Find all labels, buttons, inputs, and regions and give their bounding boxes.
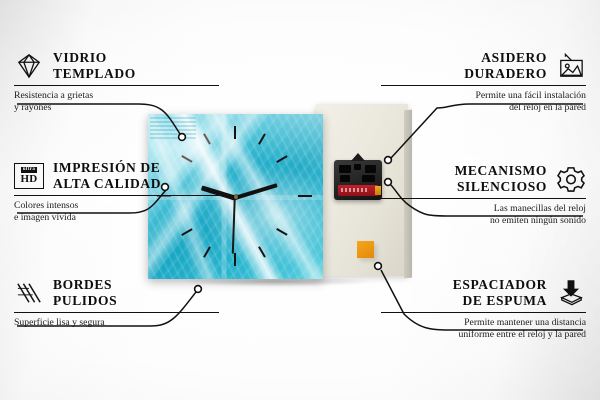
feature-title: VIDRIO TEMPLADO bbox=[53, 50, 136, 81]
feature-desc-line2: del reloj en la pared bbox=[509, 102, 586, 113]
feature-desc-line1: Permite mantener una distancia bbox=[464, 317, 586, 328]
feature-divider bbox=[14, 195, 219, 196]
feature-divider bbox=[14, 85, 219, 86]
feature-desc-line1: Resistencia a grietas bbox=[14, 90, 93, 101]
foam-spacer-icon bbox=[556, 280, 586, 306]
feature-bordes-pulidos: BORDES PULIDOS Superficie lisa y segura bbox=[14, 277, 219, 329]
feature-title-line2: ALTA CALIDAD bbox=[53, 176, 161, 191]
feature-title: BORDES PULIDOS bbox=[53, 277, 117, 308]
picture-hanger-icon bbox=[556, 53, 586, 79]
feature-desc-line1: Permite una fácil instalación bbox=[475, 90, 586, 101]
wire-dot-espaciador bbox=[375, 263, 382, 270]
infographic-canvas: VIDRIO TEMPLADO Resistencia a grietas y … bbox=[0, 0, 600, 400]
feature-desc-line2: e imagen vívida bbox=[14, 212, 76, 223]
feature-heading: ultra HD IMPRESIÓN DE ALTA CALIDAD bbox=[14, 160, 219, 191]
feature-mecanismo-silencioso: MECANISMO SILENCIOSO Las manecillas del … bbox=[381, 163, 586, 227]
feature-description: Colores intensos e imagen vívida bbox=[14, 200, 219, 223]
feature-title-line1: MECANISMO bbox=[455, 163, 547, 178]
feature-divider bbox=[381, 198, 586, 199]
feature-title-line1: BORDES bbox=[53, 277, 112, 292]
feature-heading: MECANISMO SILENCIOSO bbox=[381, 163, 586, 194]
wire-dot-vidrio bbox=[179, 134, 186, 141]
feature-title-line1: ESPACIADOR bbox=[453, 277, 547, 292]
feature-asidero-duradero: ASIDERO DURADERO Permite una fácil insta… bbox=[381, 50, 586, 114]
ultra-hd-icon: ultra HD bbox=[14, 163, 44, 189]
feature-desc-line1: Las manecillas del reloj bbox=[494, 203, 586, 214]
feature-title: IMPRESIÓN DE ALTA CALIDAD bbox=[53, 160, 161, 191]
polished-edges-icon bbox=[14, 280, 44, 306]
diamond-icon bbox=[14, 53, 44, 79]
feature-desc-line2: y rayones bbox=[14, 102, 51, 113]
feature-desc-line1: Colores intensos bbox=[14, 200, 78, 211]
feature-title-line2: PULIDOS bbox=[53, 293, 117, 308]
feature-divider bbox=[14, 312, 219, 313]
feature-impresion-alta-calidad: ultra HD IMPRESIÓN DE ALTA CALIDAD Color… bbox=[14, 160, 219, 224]
feature-title: MECANISMO SILENCIOSO bbox=[455, 163, 547, 194]
ultra-hd-icon-top: ultra bbox=[21, 167, 38, 173]
gear-icon bbox=[556, 166, 586, 192]
feature-title: ESPACIADOR DE ESPUMA bbox=[453, 277, 547, 308]
feature-description: Las manecillas del reloj no emiten ningú… bbox=[381, 203, 586, 226]
feature-description: Resistencia a grietas y rayones bbox=[14, 90, 219, 113]
feature-heading: VIDRIO TEMPLADO bbox=[14, 50, 219, 81]
feature-description: Superficie lisa y segura bbox=[14, 317, 219, 329]
feature-description: Permite mantener una distancia uniforme … bbox=[381, 317, 586, 340]
feature-divider bbox=[381, 312, 586, 313]
feature-heading: BORDES PULIDOS bbox=[14, 277, 219, 308]
feature-title-line1: VIDRIO bbox=[53, 50, 107, 65]
feature-divider bbox=[381, 85, 586, 86]
feature-title-line1: ASIDERO bbox=[481, 50, 547, 65]
feature-title-line2: DURADERO bbox=[464, 66, 547, 81]
feature-desc-line1: Superficie lisa y segura bbox=[14, 317, 105, 328]
feature-title-line2: TEMPLADO bbox=[53, 66, 136, 81]
feature-title-line1: IMPRESIÓN DE bbox=[53, 160, 160, 175]
feature-heading: ASIDERO DURADERO bbox=[381, 50, 586, 81]
feature-desc-line2: uniforme entre el reloj y la pared bbox=[459, 329, 587, 340]
feature-heading: ESPACIADOR DE ESPUMA bbox=[381, 277, 586, 308]
feature-espaciador-espuma: ESPACIADOR DE ESPUMA Permite mantener un… bbox=[381, 277, 586, 341]
ultra-hd-icon-main: HD bbox=[20, 174, 37, 185]
feature-vidrio-templado: VIDRIO TEMPLADO Resistencia a grietas y … bbox=[14, 50, 219, 114]
feature-title-line2: DE ESPUMA bbox=[462, 293, 547, 308]
feature-title: ASIDERO DURADERO bbox=[464, 50, 547, 81]
feature-description: Permite una fácil instalación del reloj … bbox=[381, 90, 586, 113]
feature-desc-line2: no emiten ningún sonido bbox=[490, 215, 586, 226]
feature-title-line2: SILENCIOSO bbox=[457, 179, 547, 194]
